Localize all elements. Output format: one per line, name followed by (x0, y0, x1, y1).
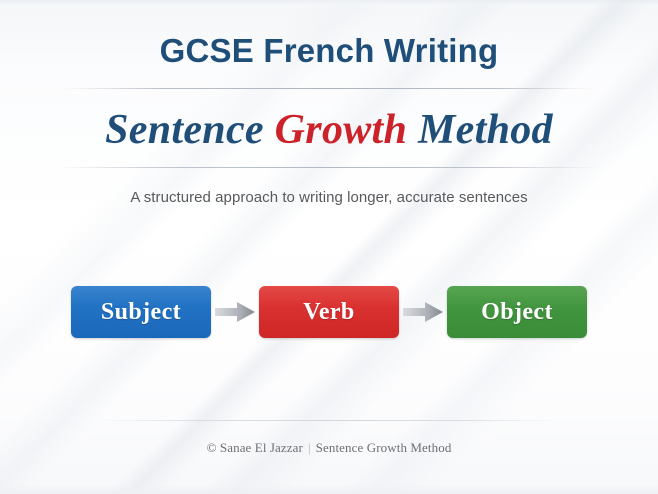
flow-box-object: Object (447, 286, 587, 338)
footer-separator: | (303, 440, 316, 455)
divider-above-subtitle (64, 88, 594, 89)
flow-box-subject: Subject (71, 286, 211, 338)
footer-method-name: Sentence Growth Method (316, 440, 452, 455)
slide-footer: © Sanae El Jazzar|Sentence Growth Method (0, 440, 658, 456)
slide-title: GCSE French Writing (0, 32, 658, 70)
sentence-structure-diagram: Subject Verb (0, 284, 658, 340)
divider-above-footer (96, 420, 562, 421)
flow-box-verb: Verb (259, 286, 399, 338)
arrow-right-icon (211, 286, 259, 338)
presentation-slide: GCSE French Writing Sentence Growth Meth… (0, 0, 658, 494)
subtitle-word-growth: Growth (275, 107, 408, 153)
slide-content: GCSE French Writing Sentence Growth Meth… (0, 0, 658, 494)
slide-tagline: A structured approach to writing longer,… (0, 189, 658, 206)
slide-subtitle: Sentence Growth Method (0, 106, 658, 154)
divider-below-subtitle (60, 167, 598, 168)
footer-copyright: © Sanae El Jazzar (207, 440, 303, 455)
subtitle-word-sentence: Sentence (105, 107, 264, 153)
subtitle-word-method: Method (418, 107, 553, 153)
arrow-right-icon-2 (399, 286, 447, 338)
